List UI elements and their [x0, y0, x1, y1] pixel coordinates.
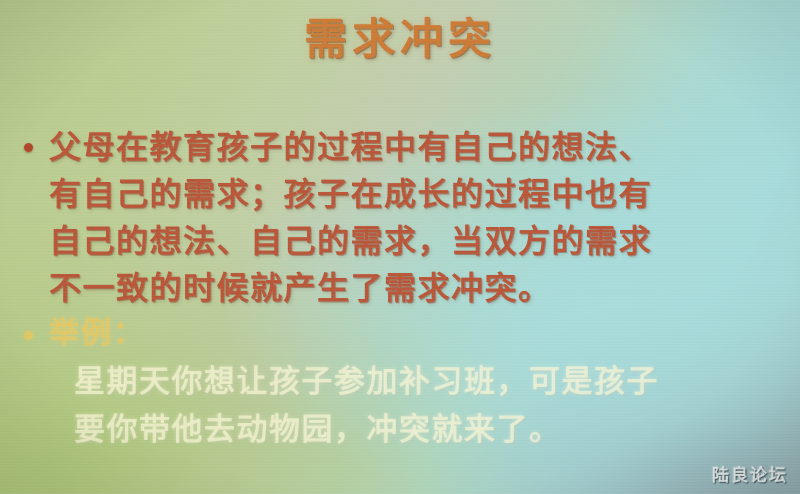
body-line: 有自己的需求；孩子在成长的过程中也有 — [49, 171, 782, 218]
presentation-slide-photo: 需求冲突 父母在教育孩子的过程中有自己的想法、 有自己的需求；孩子在成长的过程中… — [0, 0, 800, 494]
example-line: 星期天你想让孩子参加补习班，可是孩子 — [74, 358, 782, 406]
slide-title: 需求冲突 — [0, 16, 800, 65]
bullet-example-text: 举例： 星期天你想让孩子参加补习班，可是孩子 要你带他去动物园，冲突就来了。 — [49, 312, 782, 454]
bullet-primary-text: 父母在教育孩子的过程中有自己的想法、 有自己的需求；孩子在成长的过程中也有 自己… — [49, 124, 782, 312]
body-line: 不一致的时候就产生了需求冲突。 — [49, 265, 782, 312]
bullet-item-example: 举例： 星期天你想让孩子参加补习班，可是孩子 要你带他去动物园，冲突就来了。 — [24, 312, 782, 454]
example-line: 要你带他去动物园，冲突就来了。 — [74, 406, 782, 454]
bullet-item-primary: 父母在教育孩子的过程中有自己的想法、 有自己的需求；孩子在成长的过程中也有 自己… — [24, 124, 782, 312]
bullet-dot-icon — [24, 143, 33, 152]
bullet-dot-icon — [24, 331, 33, 340]
example-label: 举例： — [49, 312, 782, 356]
body-line: 父母在教育孩子的过程中有自己的想法、 — [49, 124, 782, 171]
slide-body: 父母在教育孩子的过程中有自己的想法、 有自己的需求；孩子在成长的过程中也有 自己… — [24, 124, 782, 454]
example-body: 星期天你想让孩子参加补习班，可是孩子 要你带他去动物园，冲突就来了。 — [74, 358, 782, 454]
body-line: 自己的想法、自己的需求，当双方的需求 — [49, 218, 782, 265]
forum-watermark: 陆良论坛 — [712, 461, 788, 486]
